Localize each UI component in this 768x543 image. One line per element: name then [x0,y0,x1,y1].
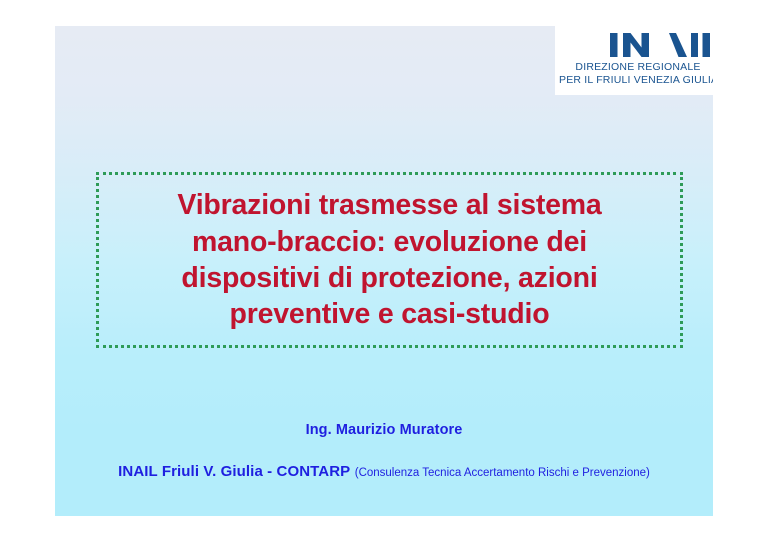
title-box: Vibrazioni trasmesse al sistema mano-bra… [96,172,683,348]
slide-canvas: DIREZIONE REGIONALE PER IL FRIULI VENEZI… [0,0,768,543]
logo-subtitle-line2: PER IL FRIULI VENEZIA GIULIA [559,74,713,86]
author-name: Ing. Maurizio Muratore [55,422,713,438]
affiliation: INAIL Friuli V. Giulia - CONTARP (Consul… [55,463,713,481]
logo-subtitle-line1: DIREZIONE REGIONALE [559,61,713,73]
inail-wordmark-icon [610,31,710,59]
presentation-slide: DIREZIONE REGIONALE PER IL FRIULI VENEZI… [55,26,713,516]
inail-logo: DIREZIONE REGIONALE PER IL FRIULI VENEZI… [555,26,713,95]
page-title: Vibrazioni trasmesse al sistema mano-bra… [177,187,601,333]
affiliation-organization: INAIL Friuli V. Giulia - CONTARP [118,463,350,480]
affiliation-note: (Consulenza Tecnica Accertamento Rischi … [355,467,650,479]
